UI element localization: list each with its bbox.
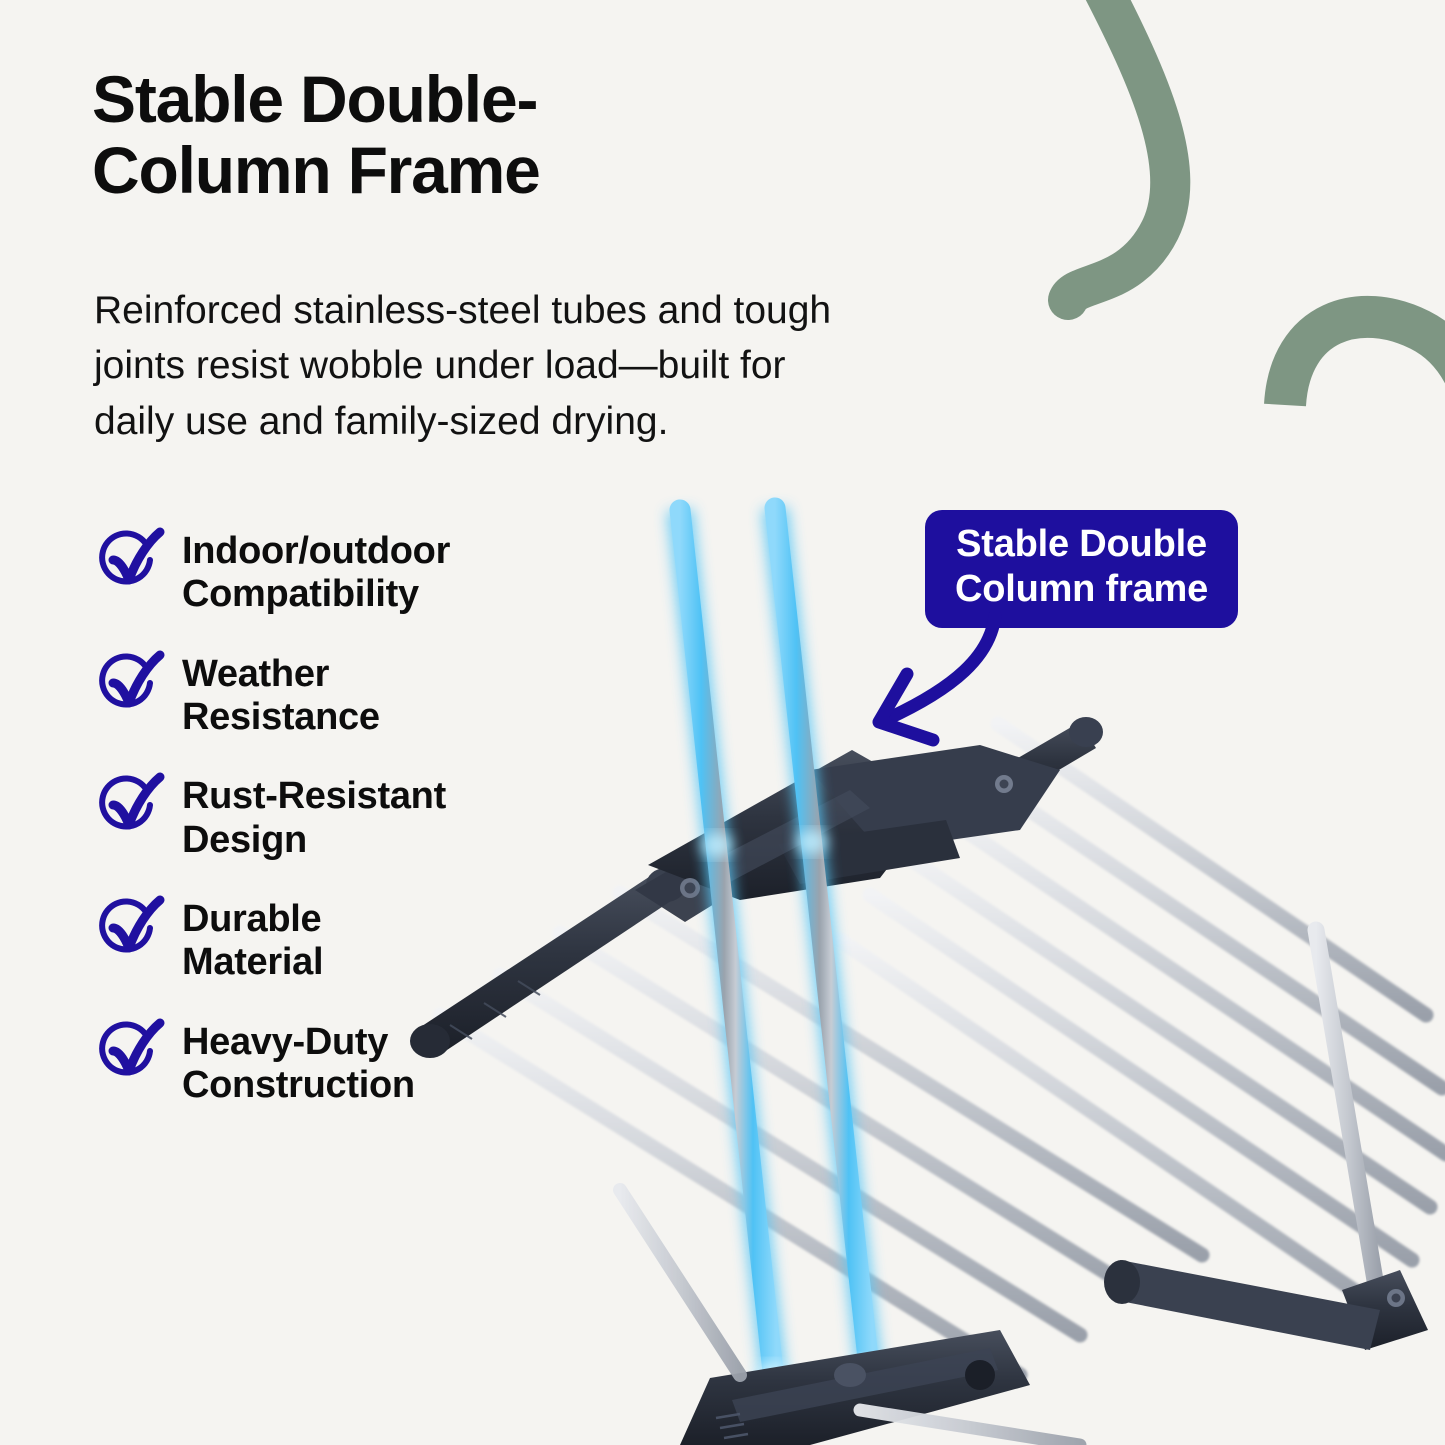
callout-badge: Stable Double Column frame [925,510,1238,628]
check-circle-icon [92,526,166,598]
check-circle-icon [92,1017,166,1089]
s-curve-decoration [1068,0,1170,300]
feature-list: Indoor/outdoor Compatibility Weather Res… [92,524,652,1107]
rack-upper-rails [840,724,1445,1315]
highlighted-double-columns [680,508,884,1400]
list-item[interactable]: Heavy-Duty Construction [92,1015,652,1108]
rack-right-end-cap [980,717,1103,806]
list-item[interactable]: Durable Material [92,892,652,985]
rack-right-leg [1104,930,1428,1350]
list-item-label: Heavy-Duty Construction [182,1015,415,1108]
rack-base-bar [680,1330,1030,1445]
callout-label: Stable Double Column frame [947,522,1216,612]
arch-curve-decoration [1285,317,1445,500]
list-item-label: Durable Material [182,892,323,985]
rack-center-joint [635,745,1060,922]
rack-support-strut [620,1190,1080,1445]
list-item-label: Rust-Resistant Design [182,769,446,862]
check-circle-icon [92,771,166,843]
check-circle-icon [92,894,166,966]
page-title: Stable Double- Column Frame [92,64,792,207]
list-item-label: Indoor/outdoor Compatibility [182,524,450,617]
check-circle-icon [92,649,166,721]
column-tube-right [775,508,872,1395]
page-description: Reinforced stainless-steel tubes and tou… [94,283,974,449]
column-tube-left [680,510,776,1400]
list-item-label: Weather Resistance [182,647,380,740]
list-item[interactable]: Rust-Resistant Design [92,769,652,862]
list-item[interactable]: Weather Resistance [92,647,652,740]
infographic-canvas: Stable Double- Column Frame Reinforced s… [0,0,1445,1445]
callout-arrow-icon [845,612,1055,752]
list-item[interactable]: Indoor/outdoor Compatibility [92,524,652,617]
